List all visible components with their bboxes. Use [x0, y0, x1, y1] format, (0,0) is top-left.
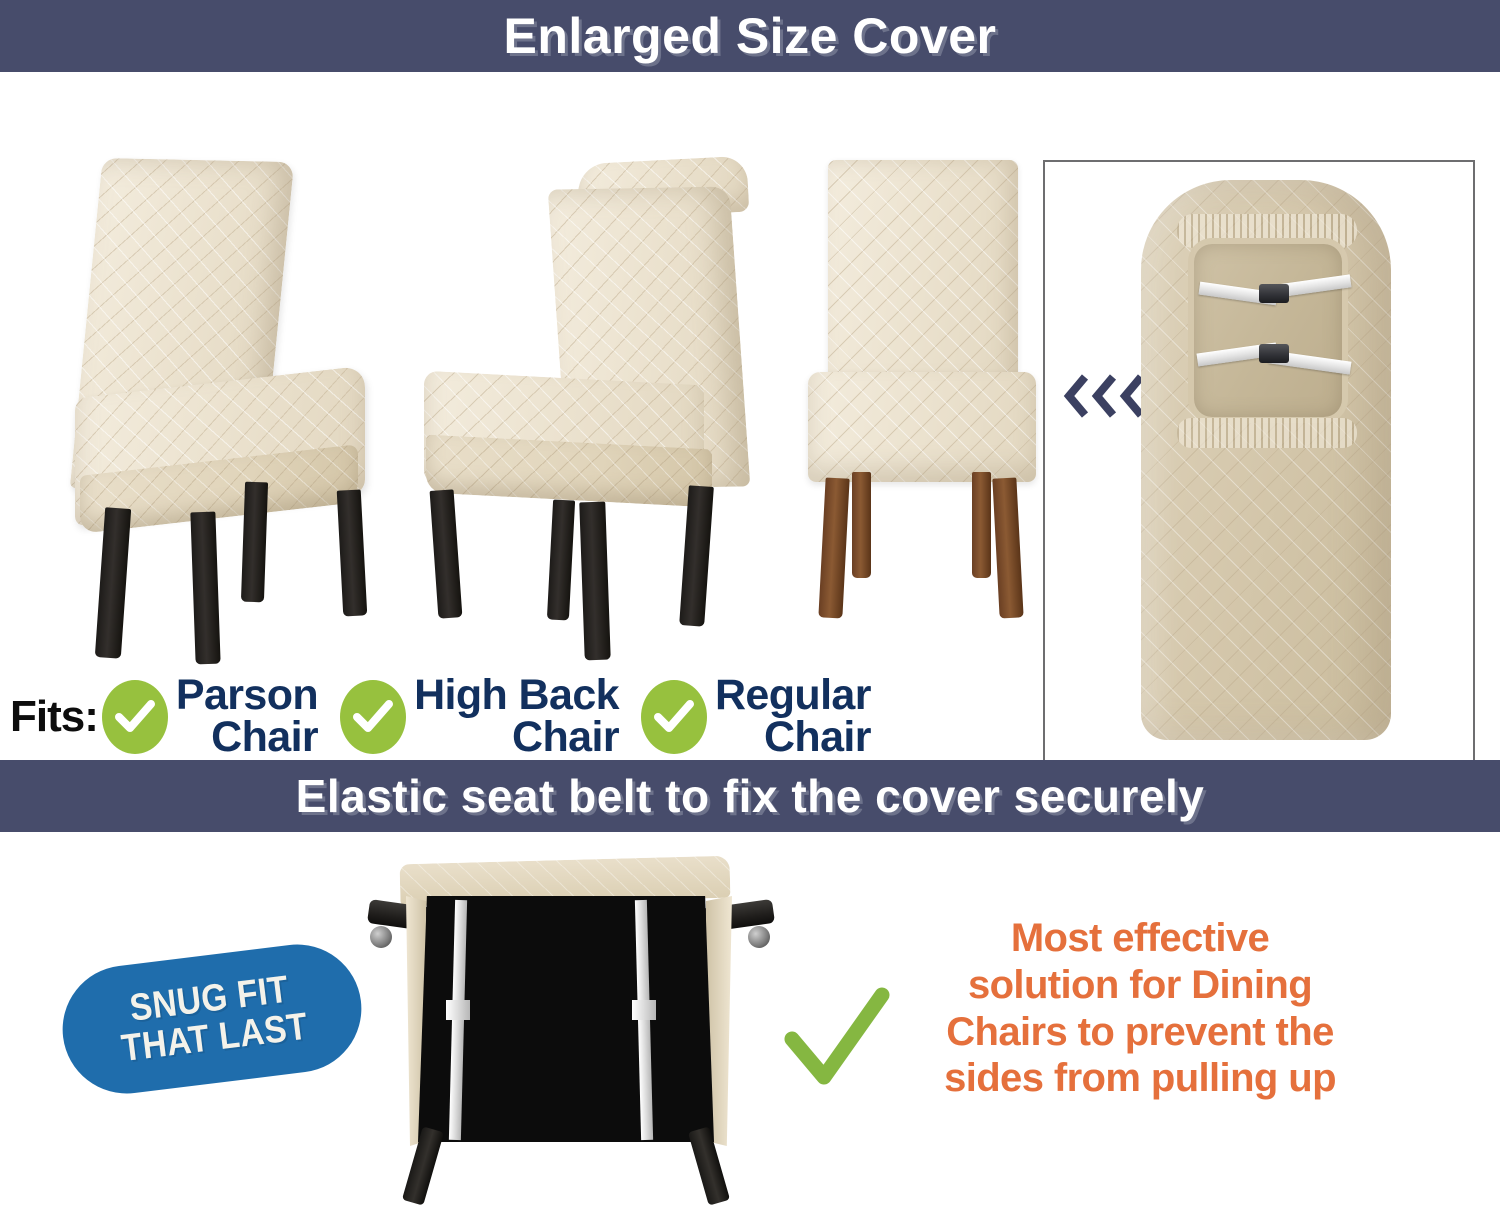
chair-leg-foot-cap-left: [370, 926, 392, 948]
regular-chair-leg-front-right: [992, 477, 1023, 618]
fit-item-parson: Parson Chair: [102, 675, 318, 758]
check-icon: [102, 680, 168, 754]
high-back-chair-leg-front-left: [430, 489, 463, 618]
strap-buckle-upper: [1259, 284, 1289, 303]
fit-label-regular-line2: Chair: [715, 717, 871, 759]
chair-leg-foot-cap-right: [748, 926, 770, 948]
chair-photo-high-back: [410, 160, 780, 660]
section-banner-elastic-seat-belt: Elastic seat belt to fix the cover secur…: [0, 760, 1500, 832]
regular-chair-leg-front-left: [818, 477, 849, 618]
header-banner-title: Enlarged Size Cover: [504, 7, 997, 65]
cover-elastic-gather-bottom: [1177, 418, 1357, 448]
benefit-copy: Most effective solution for Dining Chair…: [890, 915, 1390, 1102]
product-cover-panel: [1043, 160, 1475, 762]
high-back-chair-leg-back-left: [579, 502, 610, 661]
benefit-copy-line4: sides from pulling up: [890, 1055, 1390, 1102]
fit-item-regular: Regular Chair: [641, 675, 871, 758]
parson-chair-leg-back-left: [241, 482, 268, 603]
fit-label-regular: Regular Chair: [715, 675, 871, 758]
regular-chair-seat: [808, 372, 1036, 482]
check-icon: [641, 680, 707, 754]
chair-fit-section: Fits: Parson Chair High Back Chair: [0, 72, 1500, 760]
regular-chair-backrest: [828, 160, 1018, 385]
fit-label-parson: Parson Chair: [176, 675, 318, 758]
regular-chair-leg-back-right: [972, 472, 991, 578]
regular-chair-leg-back-left: [852, 472, 871, 578]
chair-photo-regular: [800, 160, 1050, 660]
chair-cover-with-elastic-straps-icon: [1141, 180, 1391, 740]
high-back-chair-leg-front-right: [547, 500, 575, 621]
triple-chevron-left-icon: [1063, 374, 1145, 418]
underside-strap-clip-left: [446, 1000, 470, 1020]
fits-label: Fits:: [10, 692, 98, 742]
parson-chair-leg-back-right: [337, 489, 368, 616]
high-back-chair-leg-back-right: [679, 485, 714, 626]
cover-back-opening: [1188, 238, 1348, 423]
check-icon: [340, 680, 406, 754]
fits-row: Fits: Parson Chair High Back Chair: [10, 667, 1040, 767]
chair-photos-group: [0, 72, 1040, 592]
green-check-icon: [782, 985, 892, 1095]
chair-underside-photo: [360, 860, 780, 1200]
chair-leg-lower-left: [402, 1126, 444, 1205]
fit-label-parson-line2: Chair: [176, 717, 318, 759]
strap-buckle-lower: [1259, 344, 1289, 363]
benefit-copy-line3: Chairs to prevent the: [890, 1009, 1390, 1056]
section-banner-title: Elastic seat belt to fix the cover secur…: [296, 769, 1205, 823]
benefit-copy-line2: solution for Dining: [890, 962, 1390, 1009]
chair-photo-parson: [28, 160, 398, 660]
header-banner-enlarged-size-cover: Enlarged Size Cover: [0, 0, 1500, 72]
fit-item-high-back: High Back Chair: [340, 675, 619, 758]
benefit-copy-line1: Most effective: [890, 915, 1390, 962]
parson-chair-leg-front-right: [190, 512, 220, 665]
fit-label-high-back: High Back Chair: [414, 675, 619, 758]
fit-label-high-back-line2: Chair: [414, 717, 619, 759]
underside-strap-clip-right: [632, 1000, 656, 1020]
